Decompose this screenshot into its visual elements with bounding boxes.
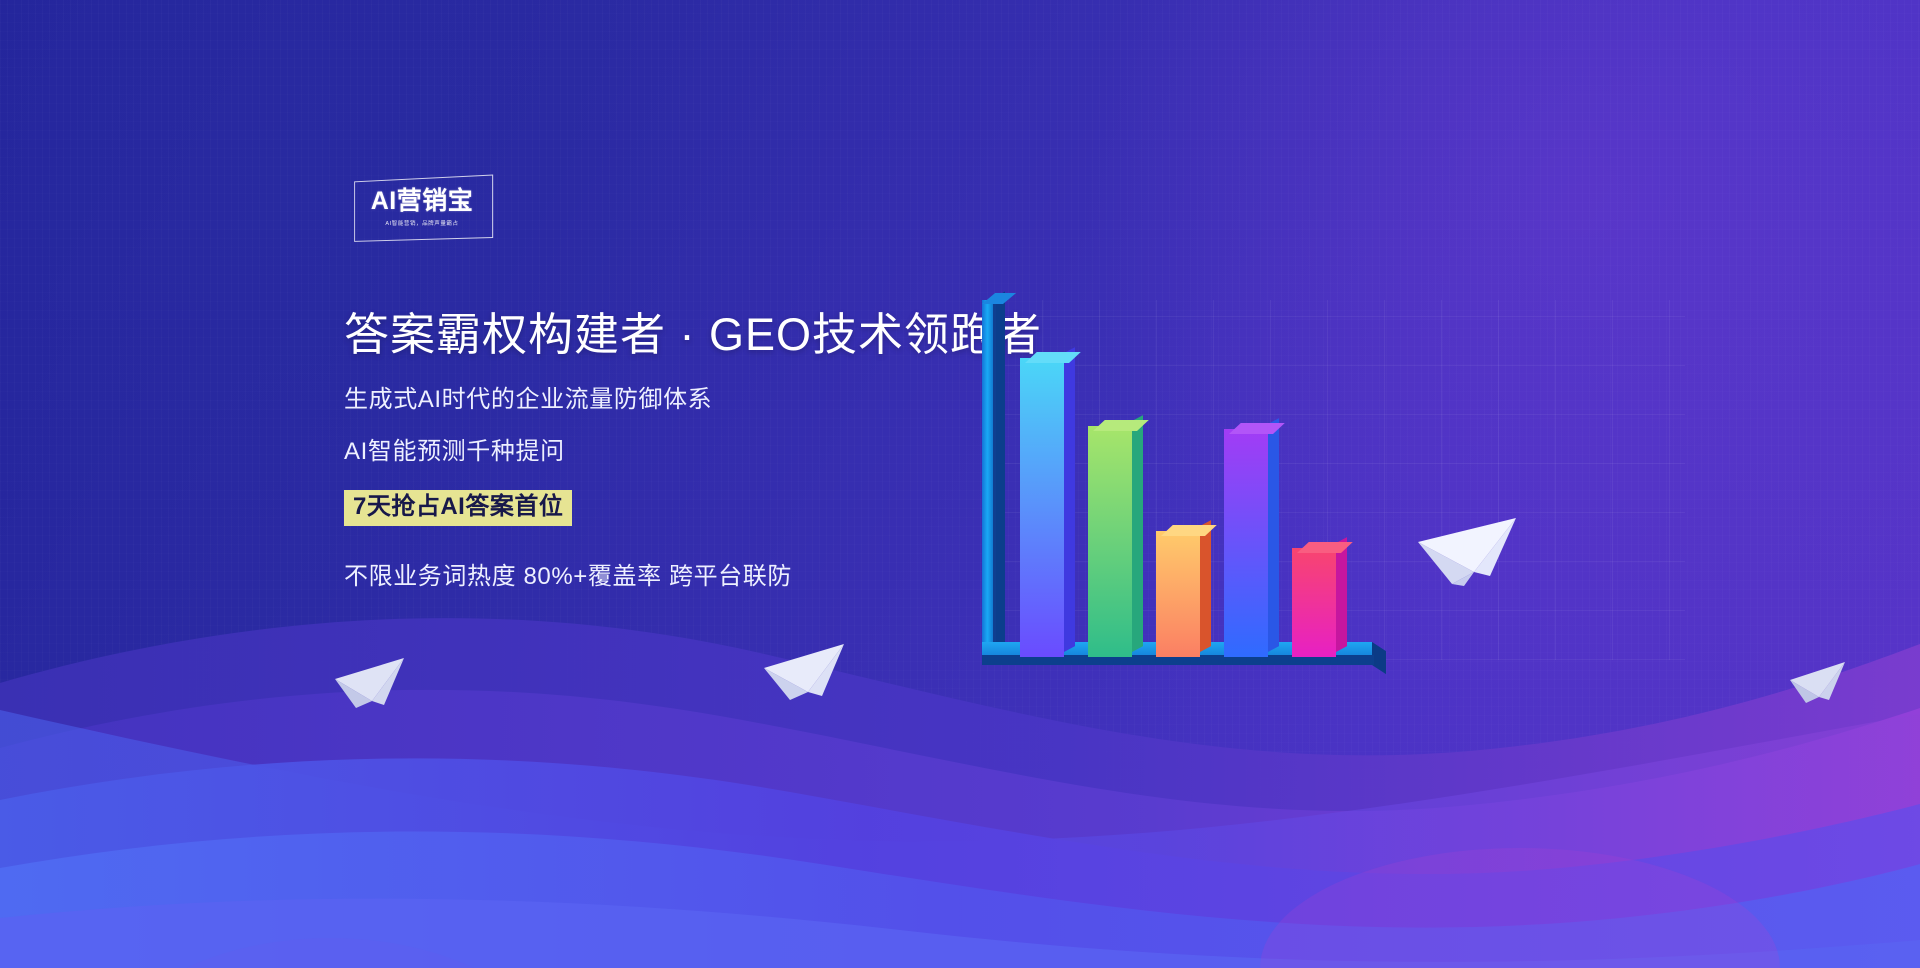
brand-logo[interactable]: AI营销宝 AI智能营销，品牌声量霸占 xyxy=(352,178,492,240)
chart-x-axis-cap xyxy=(1372,642,1386,674)
chart-bar xyxy=(1224,429,1268,657)
chart-bar xyxy=(1088,426,1132,657)
chart-y-axis-top xyxy=(982,293,1016,304)
logo-tagline: AI智能营销，品牌声量霸占 xyxy=(358,221,487,227)
chart-bar xyxy=(1156,531,1200,657)
chart-bar-side xyxy=(1336,537,1347,652)
chart-bar xyxy=(1292,548,1336,657)
chart-bar-side xyxy=(1200,520,1211,652)
bar-chart xyxy=(975,290,1475,670)
chart-y-axis-side xyxy=(996,291,1005,649)
chart-bar xyxy=(1020,358,1064,657)
chart-bar-face xyxy=(1088,426,1132,657)
chart-y-axis xyxy=(982,300,996,650)
chart-bar-side xyxy=(1268,418,1279,652)
chart-bar-face xyxy=(1020,358,1064,657)
chart-bar-face xyxy=(1156,531,1200,657)
chart-bar-face xyxy=(1292,548,1336,657)
chart-bar-face xyxy=(1224,429,1268,657)
hero-banner: AI营销宝 AI智能营销，品牌声量霸占 答案霸权构建者 · GEO技术领跑者 生… xyxy=(0,0,1920,968)
chart-bar-side xyxy=(1132,415,1143,652)
hero-highlight-badge: 7天抢占AI答案首位 xyxy=(344,490,572,526)
logo-wordmark: AI营销宝 xyxy=(352,189,492,214)
chart-bar-side xyxy=(1064,347,1075,652)
